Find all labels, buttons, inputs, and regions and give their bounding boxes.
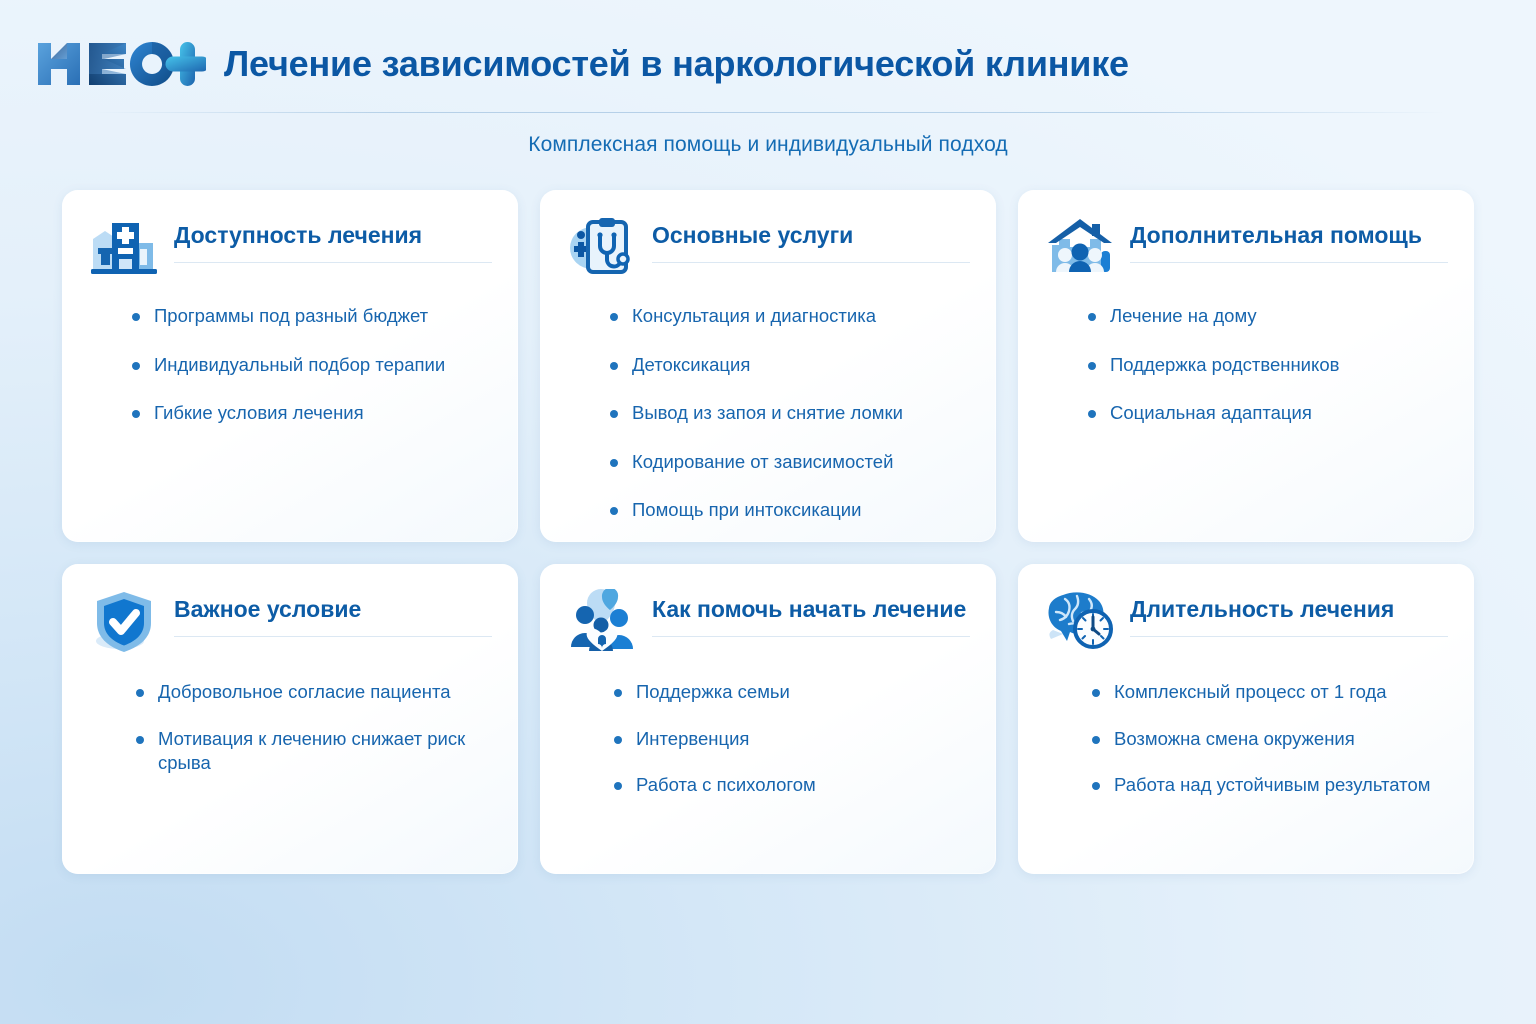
list-item: Программы под разный бюджет xyxy=(132,304,492,329)
card-main-services[interactable]: Основные услуги Консультация и диагности… xyxy=(540,190,996,542)
list-item: Кодирование от зависимостей xyxy=(610,450,970,475)
card-title: Важное условие xyxy=(174,596,492,622)
list-item: Индивидуальный подбор терапии xyxy=(132,353,492,378)
card-bullet-list: Поддержка семьи Интервенция Работа с пси… xyxy=(566,680,970,798)
card-treatment-availability[interactable]: Доступность лечения Программы под разный… xyxy=(62,190,518,542)
card-title-wrap: Важное условие xyxy=(174,588,492,637)
card-title: Как помочь начать лечение xyxy=(652,596,970,622)
list-item: Комплексный процесс от 1 года xyxy=(1092,680,1448,705)
card-header: Длительность лечения xyxy=(1044,588,1448,654)
shield-check-icon xyxy=(88,588,160,654)
list-item: Гибкие условия лечения xyxy=(132,401,492,426)
card-header: Доступность лечения xyxy=(88,214,492,280)
clipboard-stethoscope-icon xyxy=(566,214,638,280)
list-item: Добровольное согласие пациента xyxy=(136,680,492,705)
list-item: Помощь при интоксикации xyxy=(610,498,970,523)
hospital-building-icon xyxy=(88,214,160,280)
card-additional-help[interactable]: Дополнительная помощь Лечение на дому По… xyxy=(1018,190,1474,542)
list-item: Работа с психологом xyxy=(614,773,970,798)
card-title: Основные услуги xyxy=(652,222,970,248)
list-item: Мотивация к лечению снижает риск срыва xyxy=(136,727,492,776)
card-bullet-list: Добровольное согласие пациента Мотивация… xyxy=(88,680,492,776)
cards-grid: Доступность лечения Программы под разный… xyxy=(62,190,1474,874)
card-important-condition[interactable]: Важное условие Добровольное согласие пац… xyxy=(62,564,518,874)
page-header: Лечение зависимостей в наркологической к… xyxy=(0,0,1536,157)
card-treatment-duration[interactable]: Длительность лечения Комплексный процесс… xyxy=(1018,564,1474,874)
list-item: Поддержка родственников xyxy=(1088,353,1448,378)
card-bullet-list: Комплексный процесс от 1 года Возможна с… xyxy=(1044,680,1448,798)
card-title: Доступность лечения xyxy=(174,222,492,248)
list-item: Возможна смена окружения xyxy=(1092,727,1448,752)
card-bullet-list: Программы под разный бюджет Индивидуальн… xyxy=(88,304,492,426)
card-title-wrap: Дополнительная помощь xyxy=(1130,214,1448,263)
card-divider xyxy=(652,636,970,637)
card-divider xyxy=(1130,262,1448,263)
page-title: Лечение зависимостей в наркологической к… xyxy=(224,43,1129,85)
list-item: Работа над устойчивым результатом xyxy=(1092,773,1448,798)
card-bullet-list: Консультация и диагностика Детоксикация … xyxy=(566,304,970,523)
card-divider xyxy=(652,262,970,263)
list-item: Социальная адаптация xyxy=(1088,401,1448,426)
card-title-wrap: Как помочь начать лечение xyxy=(652,588,970,637)
card-title: Дополнительная помощь xyxy=(1130,222,1448,248)
list-item: Интервенция xyxy=(614,727,970,752)
list-item: Лечение на дому xyxy=(1088,304,1448,329)
page-subtitle: Комплексная помощь и индивидуальный подх… xyxy=(0,133,1536,157)
card-title: Длительность лечения xyxy=(1130,596,1448,622)
card-header: Дополнительная помощь xyxy=(1044,214,1448,280)
list-item: Консультация и диагностика xyxy=(610,304,970,329)
list-item: Вывод из запоя и снятие ломки xyxy=(610,401,970,426)
card-divider xyxy=(1130,636,1448,637)
card-title-wrap: Длительность лечения xyxy=(1130,588,1448,637)
card-divider xyxy=(174,262,492,263)
card-title-wrap: Основные услуги xyxy=(652,214,970,263)
card-divider xyxy=(174,636,492,637)
card-header: Важное условие xyxy=(88,588,492,654)
brain-clock-icon xyxy=(1044,588,1116,654)
list-item: Поддержка семьи xyxy=(614,680,970,705)
card-how-to-start-treatment[interactable]: Как помочь начать лечение Поддержка семь… xyxy=(540,564,996,874)
card-bullet-list: Лечение на дому Поддержка родственников … xyxy=(1044,304,1448,426)
list-item: Детоксикация xyxy=(610,353,970,378)
neo-plus-logo xyxy=(34,38,206,90)
family-heart-icon xyxy=(566,588,638,654)
header-divider xyxy=(90,112,1446,113)
home-care-icon xyxy=(1044,214,1116,280)
card-header: Как помочь начать лечение xyxy=(566,588,970,654)
title-row: Лечение зависимостей в наркологической к… xyxy=(0,30,1536,98)
card-header: Основные услуги xyxy=(566,214,970,280)
neo-plus-logo-icon xyxy=(34,38,206,90)
card-title-wrap: Доступность лечения xyxy=(174,214,492,263)
